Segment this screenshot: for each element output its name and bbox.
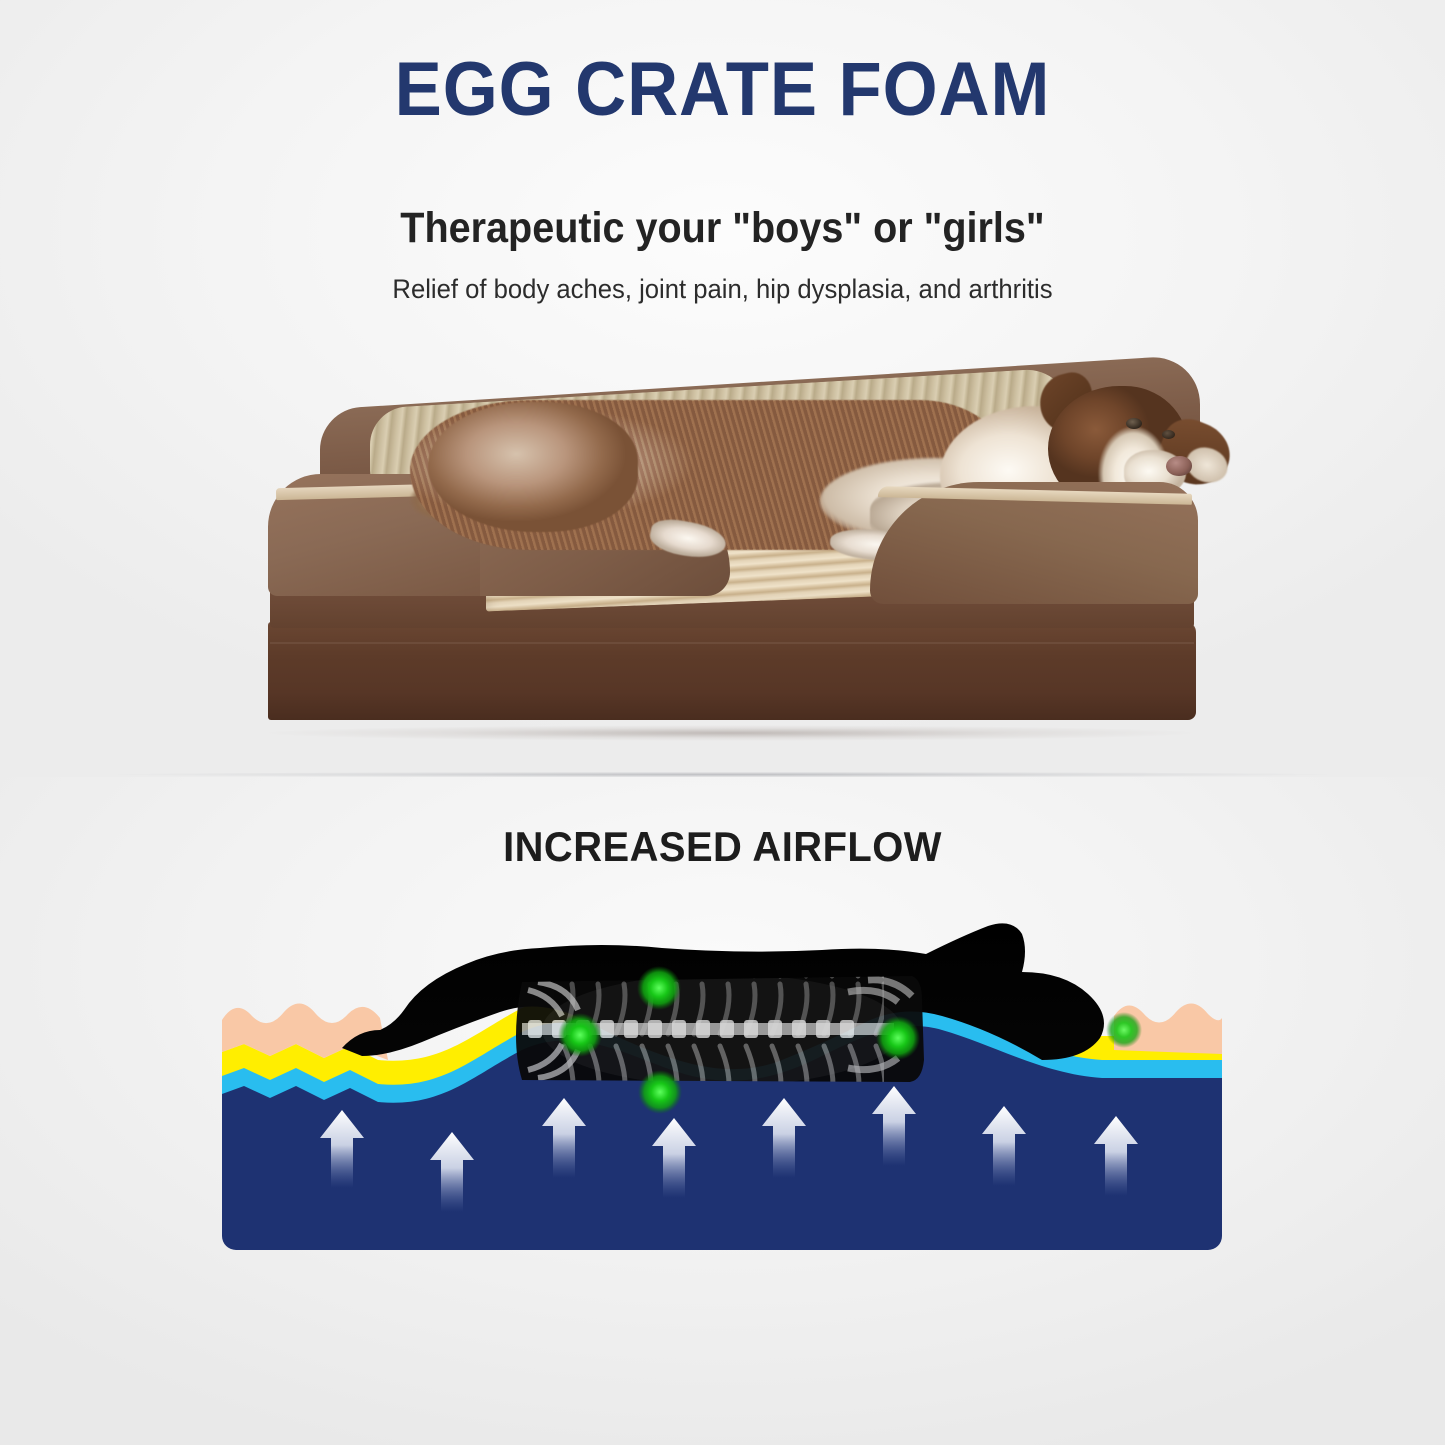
bed-drop-shadow <box>260 725 1200 741</box>
airflow-diagram <box>222 920 1222 1250</box>
product-photo-dog-bed <box>250 370 1210 735</box>
subtitle: Therapeutic your "boys" or "girls" <box>58 205 1387 252</box>
dog-hind-haunch <box>428 402 638 532</box>
airflow-diagram-svg <box>222 920 1222 1250</box>
pressure-point-dot <box>558 1013 602 1057</box>
diagram-clip-group <box>222 923 1222 1250</box>
bed-base-slab <box>268 622 1196 720</box>
pressure-point-dot <box>638 1070 682 1114</box>
dog-eye-near <box>1126 418 1142 429</box>
pressure-point-dot <box>637 966 681 1010</box>
pressure-point-dot <box>876 1016 920 1060</box>
airflow-heading: INCREASED AIRFLOW <box>36 826 1409 868</box>
page-title: EGG CRATE FOAM <box>51 52 1395 128</box>
dog-nose <box>1166 456 1192 476</box>
panel-egg-crate-foam: EGG CRATE FOAM Therapeutic your "boys" o… <box>0 0 1445 777</box>
dog-eye-far <box>1162 430 1175 439</box>
infographic-page: EGG CRATE FOAM Therapeutic your "boys" o… <box>0 0 1445 1445</box>
description-text: Relief of body aches, joint pain, hip dy… <box>36 275 1409 305</box>
pressure-point-dot <box>1106 1012 1142 1048</box>
bed-base-seam <box>270 642 1194 644</box>
